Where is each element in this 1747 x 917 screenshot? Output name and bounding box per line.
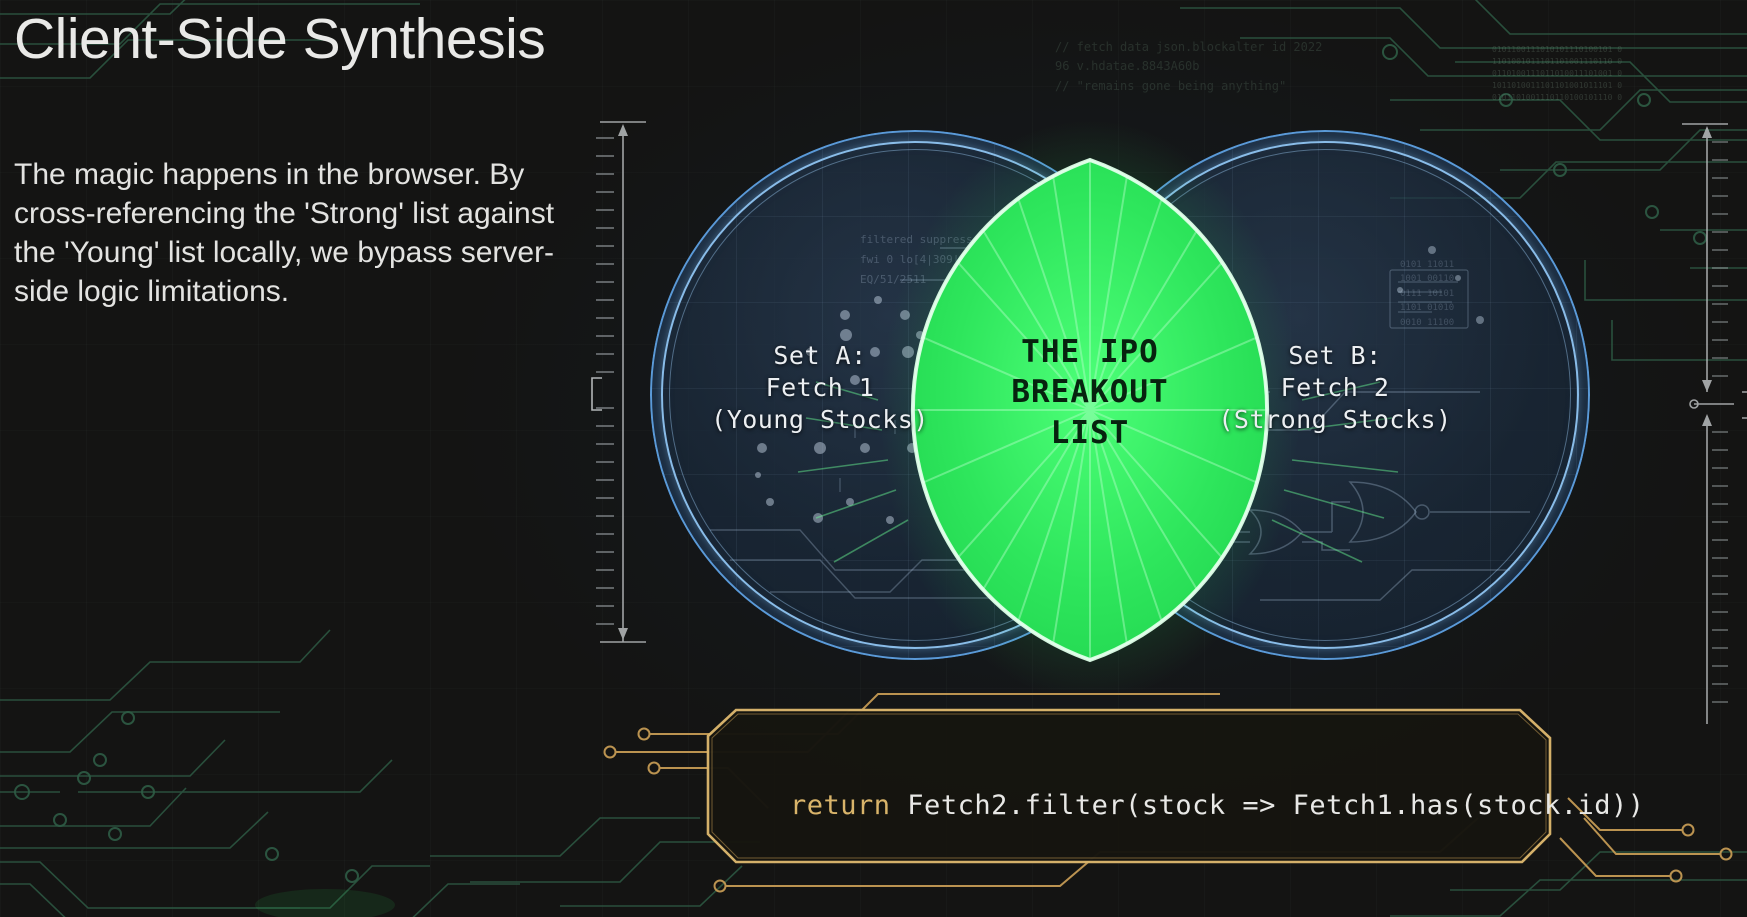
- code-callout: return Fetch2.filter(stock => Fetch1.has…: [560, 690, 1747, 917]
- code-panel: [708, 710, 1550, 862]
- background-code-comment: // fetch data json.blockalter id 2022 96…: [1055, 38, 1322, 96]
- set-a-label: Set A: Fetch 1 (Young Stocks): [660, 340, 980, 436]
- code-keyword: return: [790, 790, 891, 821]
- page-title: Client-Side Synthesis: [14, 10, 574, 70]
- left-measurement-ruler: [588, 110, 658, 660]
- code-expression: Fetch2.filter(stock => Fetch1.has(stock.…: [891, 790, 1645, 821]
- code-snippet: return Fetch2.filter(stock => Fetch1.has…: [790, 790, 1645, 821]
- body-paragraph: The magic happens in the browser. By cro…: [14, 155, 559, 311]
- right-measurement-ruler: [1664, 110, 1747, 730]
- background-binary-block: 0101100111010101110100101 0 110100101110…: [1492, 44, 1622, 104]
- presentation-slide: // fetch data json.blockalter id 2022 96…: [0, 0, 1747, 917]
- text-column: Client-Side Synthesis The magic happens …: [14, 10, 574, 311]
- intersection-label: THE IPO BREAKOUT LIST: [955, 332, 1225, 453]
